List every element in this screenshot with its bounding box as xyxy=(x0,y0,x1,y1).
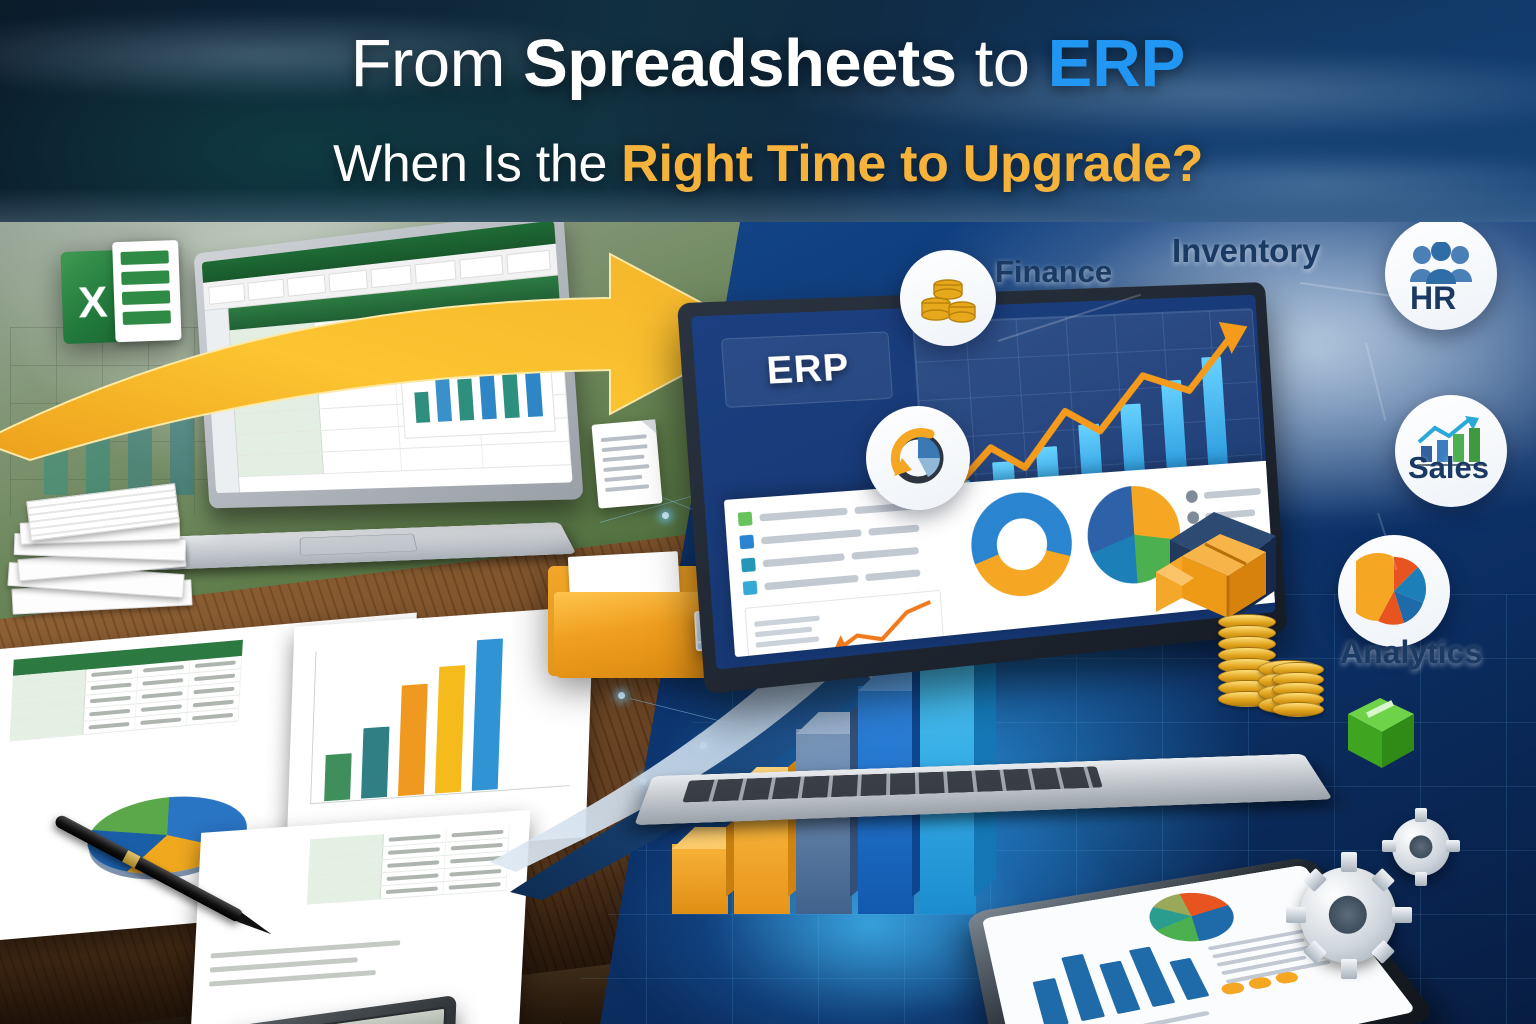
banner-header: From Spreadsheets to ERP When Is the Rig… xyxy=(0,0,1536,222)
bubble-label-analytics: Analytics xyxy=(1340,634,1482,671)
bubble-label-sales: Sales xyxy=(1408,450,1489,486)
target-chart-icon xyxy=(886,426,950,490)
gold-coins-icon xyxy=(918,271,978,325)
bubble-finance[interactable] xyxy=(900,250,996,346)
mini-trend-arrow xyxy=(824,595,940,657)
subtitle-part-right-time: Right Time to Upgrade? xyxy=(621,135,1203,193)
title-part-erp: ERP xyxy=(1048,26,1186,101)
tablet-pie-chart xyxy=(1140,887,1245,948)
printed-table xyxy=(9,640,242,742)
bubble-label-finance: Finance xyxy=(995,254,1112,290)
paper-stack xyxy=(8,492,198,622)
subtitle-part-when: When Is the xyxy=(333,135,621,193)
green-3d-cube xyxy=(1338,692,1424,779)
title-part-from: From xyxy=(351,26,523,101)
infographic-banner: From Spreadsheets to ERP When Is the Rig… xyxy=(0,0,1536,1024)
page-title: From Spreadsheets to ERP xyxy=(0,28,1536,100)
laptop-keyboard xyxy=(682,766,1102,802)
laptop-trackpad xyxy=(300,534,418,556)
bubble-analytics[interactable] xyxy=(1338,535,1450,647)
erp-donut-chart xyxy=(961,474,1091,633)
erp-badge: ERP xyxy=(721,331,893,408)
bubble-label-inventory: Inventory xyxy=(1172,232,1321,270)
bubble-reporting[interactable] xyxy=(866,406,970,510)
floating-document xyxy=(591,419,662,508)
scene: X xyxy=(0,222,1536,1024)
inventory-3d-box-icon xyxy=(1148,494,1278,614)
title-part-to: to xyxy=(975,26,1048,101)
page-subtitle: When Is the Right Time to Upgrade? xyxy=(0,136,1536,192)
bubble-label-hr: HR xyxy=(1410,280,1456,317)
title-part-spreadsheets: Spreadsheets xyxy=(523,26,975,101)
